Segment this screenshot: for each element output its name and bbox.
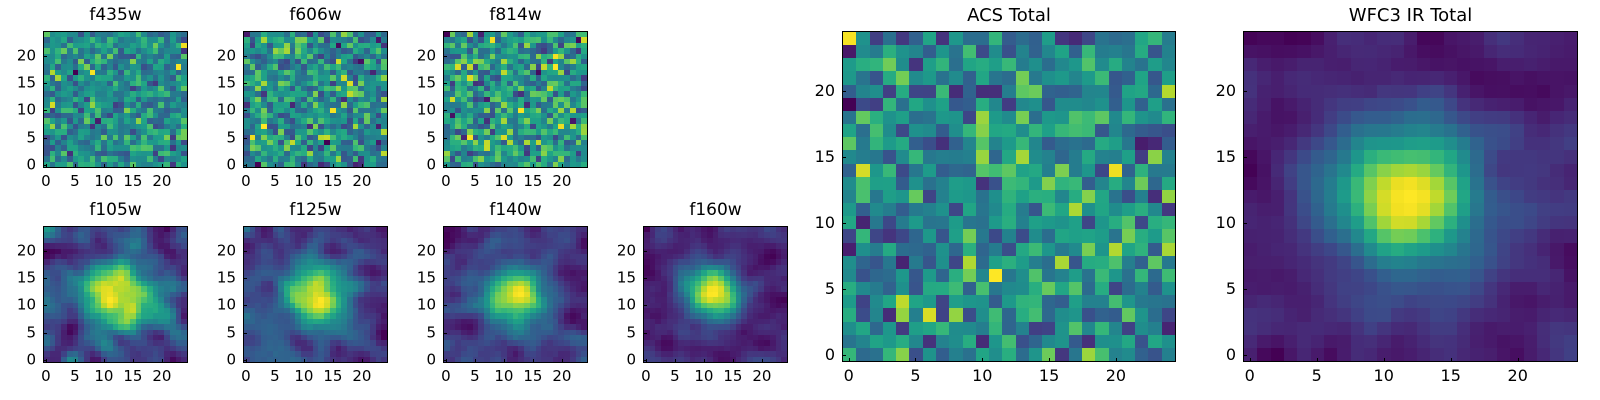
heatmap-cell (1055, 85, 1068, 98)
heatmap-cell (1069, 45, 1082, 58)
heatmap-cell (1029, 216, 1042, 229)
heatmap-cell (936, 58, 949, 71)
y-tick-mark (443, 360, 447, 361)
heatmap-cell (1029, 58, 1042, 71)
heatmap-cell (989, 85, 1002, 98)
heatmap-cell (856, 111, 869, 124)
heatmap-cell (870, 71, 883, 84)
x-tick-mark (362, 359, 363, 363)
x-tick-label: 20 (552, 174, 571, 189)
heatmap-cell (1029, 111, 1042, 124)
heatmap-cell (883, 45, 896, 58)
y-tick-mark (643, 333, 647, 334)
heatmap-cell (1055, 216, 1068, 229)
heatmap-cell (989, 177, 1002, 190)
heatmap-cell (949, 177, 962, 190)
x-tick-mark (533, 359, 534, 363)
heatmap-cell (936, 216, 949, 229)
heatmap-cell (1109, 150, 1122, 163)
y-tick-mark (443, 110, 447, 111)
heatmap-cell (1162, 111, 1175, 124)
heatmap-cell (949, 137, 962, 150)
heatmap-cell (1162, 243, 1175, 256)
heatmap-cell (949, 190, 962, 203)
x-tick-label: 20 (352, 369, 371, 384)
heatmap-cell (923, 177, 936, 190)
heatmap-cell (1082, 32, 1095, 45)
panel-title-f606w: f606w (243, 7, 388, 24)
heatmap-cell (1109, 164, 1122, 177)
x-tick-label: 0 (641, 369, 651, 384)
heatmap-cell (883, 177, 896, 190)
heatmap-cell (1095, 98, 1108, 111)
heatmap-cell (1042, 32, 1055, 45)
heatmap-cell (949, 150, 962, 163)
heatmap-cell (883, 203, 896, 216)
heatmap-cell (1082, 243, 1095, 256)
heatmap-cell (1135, 177, 1148, 190)
heatmap-cell (1082, 216, 1095, 229)
heatmap-cell (963, 85, 976, 98)
axes-f606w (243, 31, 388, 168)
heatmap-cell (883, 216, 896, 229)
y-tick-label: 20 (3, 243, 36, 258)
heatmap-cell (1122, 85, 1135, 98)
panel-title-f105w: f105w (43, 202, 188, 219)
heatmap-cell (1122, 190, 1135, 203)
heatmap-cell (949, 85, 962, 98)
heatmap-cell (1055, 58, 1068, 71)
heatmap-cell (1069, 150, 1082, 163)
heatmap-cell (976, 85, 989, 98)
heatmap-cell (1042, 71, 1055, 84)
axes-f160w (643, 226, 788, 363)
heatmap-cell (949, 71, 962, 84)
heatmap-cell (989, 243, 1002, 256)
heatmap-cell (976, 164, 989, 177)
heatmap-cell (1095, 85, 1108, 98)
heatmap-f435w (44, 32, 187, 167)
figure-canvas: f435w0510152005101520f606w05101520051015… (0, 0, 1600, 400)
heatmap-f105w (44, 227, 187, 362)
y-tick-label: 20 (403, 243, 436, 258)
heatmap-cell (1029, 71, 1042, 84)
heatmap-f814w (444, 32, 587, 167)
x-tick-mark (75, 359, 76, 363)
y-tick-mark (443, 83, 447, 84)
heatmap-cell (1095, 243, 1108, 256)
heatmap-cell (1069, 137, 1082, 150)
heatmap-cell (1055, 137, 1068, 150)
heatmap-cell (896, 256, 909, 269)
heatmap-cell (963, 124, 976, 137)
heatmap-cell (856, 216, 869, 229)
heatmap-cell (1148, 32, 1161, 45)
heatmap-cell (856, 229, 869, 242)
heatmap-cell (1109, 256, 1122, 269)
heatmap-cell (1162, 124, 1175, 137)
heatmap-cell (843, 71, 856, 84)
heatmap-cell (989, 203, 1002, 216)
heatmap-cell (909, 98, 922, 111)
heatmap-cell (1135, 58, 1148, 71)
x-tick-label: 5 (270, 174, 280, 189)
heatmap-cell (1148, 85, 1161, 98)
y-tick-label: 15 (403, 76, 436, 91)
heatmap-cell (1029, 32, 1042, 45)
panel-title-f160w: f160w (643, 202, 788, 219)
heatmap-cell (856, 164, 869, 177)
heatmap-cell (963, 229, 976, 242)
heatmap-cell (1029, 164, 1042, 177)
y-tick-label: 0 (203, 353, 236, 368)
heatmap-cell (963, 150, 976, 163)
heatmap-cell (1069, 32, 1082, 45)
heatmap-cell (1016, 45, 1029, 58)
heatmap-cell (856, 124, 869, 137)
y-tick-label: 5 (3, 325, 36, 340)
heatmap-cell (1148, 177, 1161, 190)
y-tick-mark (43, 56, 47, 57)
heatmap-cell (936, 164, 949, 177)
heatmap-cell (1135, 71, 1148, 84)
x-tick-mark (133, 359, 134, 363)
y-tick-mark (443, 251, 447, 252)
panel-f606w: f606w0510152005101520 (203, 5, 388, 194)
x-tick-label: 10 (294, 174, 313, 189)
heatmap-cell (856, 45, 869, 58)
heatmap-cell (1002, 203, 1015, 216)
y-tick-label: 0 (403, 158, 436, 173)
heatmap-cell (181, 162, 187, 167)
heatmap-cell (936, 98, 949, 111)
heatmap-cell (1055, 150, 1068, 163)
heatmap-cell (936, 85, 949, 98)
heatmap-cell (1135, 85, 1148, 98)
heatmap-f140w (444, 227, 587, 362)
heatmap-cell (949, 164, 962, 177)
heatmap-cell (1148, 111, 1161, 124)
heatmap-cell (1002, 243, 1015, 256)
heatmap-cell (909, 124, 922, 137)
axes-acs-total (842, 31, 1176, 362)
heatmap-cell (909, 32, 922, 45)
axes-f125w (243, 226, 388, 363)
heatmap-cell (1095, 111, 1108, 124)
y-tick-label: 20 (603, 243, 636, 258)
heatmap-cell (1135, 137, 1148, 150)
heatmap-cell (936, 190, 949, 203)
y-tick-label: 5 (403, 130, 436, 145)
heatmap-cell (1109, 229, 1122, 242)
x-tick-label: 5 (470, 369, 480, 384)
heatmap-cell (909, 243, 922, 256)
heatmap-cell (1082, 256, 1095, 269)
heatmap-cell (909, 177, 922, 190)
heatmap-cell (1122, 256, 1135, 269)
heatmap-cell (1095, 256, 1108, 269)
y-tick-label: 20 (203, 48, 236, 63)
y-tick-label: 5 (203, 325, 236, 340)
heatmap-cell (949, 216, 962, 229)
heatmap-cell (1162, 164, 1175, 177)
heatmap-cell (989, 71, 1002, 84)
heatmap-cell (1055, 124, 1068, 137)
heatmap-cell (949, 229, 962, 242)
heatmap-cell (963, 137, 976, 150)
x-tick-label: 10 (294, 369, 313, 384)
heatmap-cell (976, 98, 989, 111)
heatmap-cell (1029, 243, 1042, 256)
heatmap-f160w (644, 227, 787, 362)
heatmap-cell (1095, 177, 1108, 190)
heatmap-cell (989, 45, 1002, 58)
heatmap-cell (1109, 177, 1122, 190)
heatmap-cell (963, 164, 976, 177)
x-tick-mark (133, 164, 134, 168)
x-tick-label: 5 (70, 369, 80, 384)
heatmap-cell (1135, 216, 1148, 229)
x-tick-mark (362, 164, 363, 168)
heatmap-cell (1042, 177, 1055, 190)
x-tick-label: 0 (41, 369, 51, 384)
heatmap-cell (1016, 137, 1029, 150)
heatmap-cell (1042, 164, 1055, 177)
heatmap-cell (1029, 150, 1042, 163)
heatmap-cell (1069, 164, 1082, 177)
heatmap-cell (1016, 203, 1029, 216)
heatmap-cell (1122, 229, 1135, 242)
heatmap-cell (1162, 150, 1175, 163)
heatmap-cell (1029, 45, 1042, 58)
heatmap-cell (989, 98, 1002, 111)
y-tick-label: 20 (203, 243, 236, 258)
heatmap-cell (896, 229, 909, 242)
heatmap-cell (883, 243, 896, 256)
heatmap-cell (1109, 243, 1122, 256)
x-tick-label: 20 (152, 174, 171, 189)
heatmap-cell (1016, 111, 1029, 124)
x-tick-mark (104, 359, 105, 363)
heatmap-cell (1148, 58, 1161, 71)
heatmap-cell (870, 243, 883, 256)
panel-title-acs-total: ACS Total (842, 7, 1176, 25)
heatmap-cell (896, 243, 909, 256)
heatmap-cell (923, 98, 936, 111)
heatmap-cell (1002, 137, 1015, 150)
heatmap-cell (1148, 190, 1161, 203)
heatmap-cell (1095, 164, 1108, 177)
heatmap-cell (1069, 85, 1082, 98)
heatmap-cell (896, 216, 909, 229)
heatmap-cell (1148, 98, 1161, 111)
y-tick-label: 10 (203, 103, 236, 118)
heatmap-cell (923, 164, 936, 177)
heatmap-cell (963, 190, 976, 203)
heatmap-cell (1109, 58, 1122, 71)
heatmap-cell (936, 150, 949, 163)
heatmap-cell (843, 58, 856, 71)
heatmap-cell (1095, 45, 1108, 58)
heatmap-cell (1135, 111, 1148, 124)
heatmap-cell (843, 229, 856, 242)
y-tick-mark (243, 251, 247, 252)
heatmap-cell (1162, 203, 1175, 216)
heatmap-cell (883, 164, 896, 177)
heatmap-cell (949, 256, 962, 269)
heatmap-cell (1069, 229, 1082, 242)
heatmap-cell (870, 216, 883, 229)
y-tick-mark (243, 360, 247, 361)
heatmap-cell (949, 243, 962, 256)
heatmap-cell (1148, 256, 1161, 269)
heatmap-cell (1122, 32, 1135, 45)
heatmap-cell (936, 32, 949, 45)
heatmap-cell (1162, 216, 1175, 229)
heatmap-cell (1069, 111, 1082, 124)
y-tick-label: 0 (3, 353, 36, 368)
panel-f105w: f105w0510152005101520 (3, 200, 188, 389)
x-tick-label: 10 (94, 369, 113, 384)
heatmap-cell (896, 137, 909, 150)
heatmap-cell (1082, 229, 1095, 242)
heatmap-cell (949, 203, 962, 216)
y-tick-label: 0 (403, 353, 436, 368)
heatmap-cell (909, 58, 922, 71)
heatmap-cell (1148, 45, 1161, 58)
heatmap-cell (1042, 58, 1055, 71)
x-tick-mark (475, 359, 476, 363)
y-tick-mark (443, 278, 447, 279)
y-tick-label: 0 (203, 158, 236, 173)
heatmap-cell (1002, 216, 1015, 229)
heatmap-cell (896, 58, 909, 71)
heatmap-cell (1055, 243, 1068, 256)
y-tick-mark (443, 138, 447, 139)
y-tick-mark (43, 251, 47, 252)
heatmap-cell (1055, 98, 1068, 111)
heatmap-cell (949, 32, 962, 45)
x-tick-mark (504, 359, 505, 363)
heatmap-cell (989, 111, 1002, 124)
heatmap-cell (1148, 216, 1161, 229)
heatmap-cell (1095, 203, 1108, 216)
heatmap-cell (1095, 137, 1108, 150)
heatmap-cell (1148, 229, 1161, 242)
heatmap-cell (1162, 229, 1175, 242)
heatmap-cell (870, 190, 883, 203)
heatmap-cell (1002, 150, 1015, 163)
panel-title-f814w: f814w (443, 7, 588, 24)
heatmap-cell (843, 124, 856, 137)
heatmap-cell (1082, 58, 1095, 71)
heatmap-cell (923, 45, 936, 58)
heatmap-cell (989, 124, 1002, 137)
heatmap-cell (1055, 229, 1068, 242)
heatmap-cell (976, 203, 989, 216)
heatmap-cell (856, 203, 869, 216)
y-tick-label: 10 (3, 103, 36, 118)
y-tick-mark (243, 138, 247, 139)
y-tick-mark (43, 83, 47, 84)
heatmap-cell (1042, 111, 1055, 124)
heatmap-cell (909, 111, 922, 124)
panel-title-f140w: f140w (443, 202, 588, 219)
y-tick-label: 10 (203, 298, 236, 313)
x-tick-mark (333, 164, 334, 168)
heatmap-cell (856, 32, 869, 45)
x-tick-label: 15 (323, 369, 342, 384)
heatmap-cell (1122, 58, 1135, 71)
x-tick-label: 10 (694, 369, 713, 384)
x-tick-label: 15 (323, 174, 342, 189)
heatmap-cell (1055, 190, 1068, 203)
heatmap-cell (909, 190, 922, 203)
heatmap-cell (1016, 124, 1029, 137)
heatmap-cell (949, 111, 962, 124)
x-tick-label: 0 (441, 174, 451, 189)
heatmap-cell (1109, 190, 1122, 203)
heatmap-cell (1148, 164, 1161, 177)
y-tick-mark (43, 305, 47, 306)
heatmap-cell (976, 177, 989, 190)
heatmap-cell (843, 203, 856, 216)
heatmap-cell (896, 71, 909, 84)
y-tick-label: 15 (403, 271, 436, 286)
heatmap-cell (883, 190, 896, 203)
heatmap-cell (1095, 190, 1108, 203)
heatmap-cell (963, 243, 976, 256)
heatmap-cell (1029, 85, 1042, 98)
heatmap-cell (963, 98, 976, 111)
x-tick-label: 10 (494, 369, 513, 384)
y-tick-mark (43, 138, 47, 139)
heatmap-cell (909, 203, 922, 216)
heatmap-cell (896, 177, 909, 190)
heatmap-cell (936, 243, 949, 256)
heatmap-cell (896, 45, 909, 58)
heatmap-cell (923, 71, 936, 84)
heatmap-cell (1082, 150, 1095, 163)
heatmap-cell (949, 45, 962, 58)
heatmap-cell (1016, 256, 1029, 269)
heatmap-cell (989, 229, 1002, 242)
heatmap-cell (923, 85, 936, 98)
heatmap-cell (870, 124, 883, 137)
heatmap-cell (936, 45, 949, 58)
heatmap-cell (1016, 229, 1029, 242)
heatmap-cell (1055, 164, 1068, 177)
heatmap-cell (1162, 71, 1175, 84)
heatmap-cell (909, 45, 922, 58)
heatmap-cell (949, 58, 962, 71)
x-tick-mark (275, 164, 276, 168)
heatmap-cell (936, 111, 949, 124)
heatmap-cell (1042, 229, 1055, 242)
heatmap-cell (989, 150, 1002, 163)
y-tick-mark (643, 360, 647, 361)
heatmap-cell (1069, 177, 1082, 190)
heatmap-cell (870, 150, 883, 163)
heatmap-cell (1109, 137, 1122, 150)
heatmap-cell (1162, 98, 1175, 111)
y-tick-label: 10 (403, 298, 436, 313)
heatmap-cell (1122, 45, 1135, 58)
heatmap-cell (1016, 98, 1029, 111)
heatmap-cell (883, 124, 896, 137)
heatmap-cell (1055, 45, 1068, 58)
panel-f125w: f125w0510152005101520 (203, 200, 388, 389)
